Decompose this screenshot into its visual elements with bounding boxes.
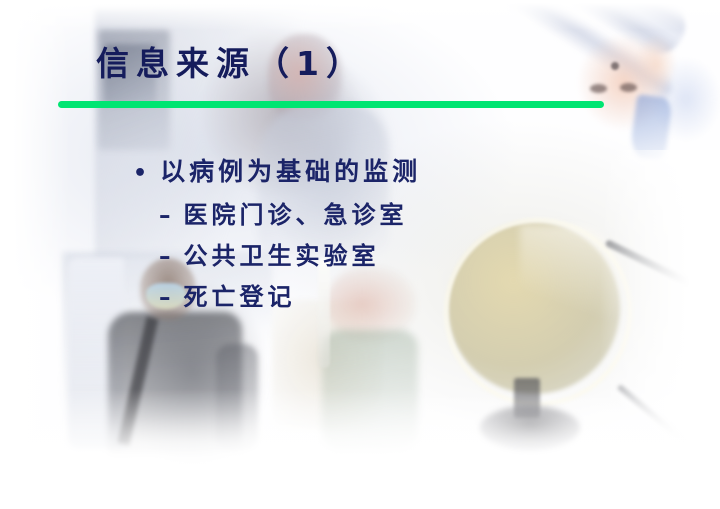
globe-base [480, 406, 580, 450]
bullet-item-3: – 公共卫生实验室 [159, 236, 653, 271]
bullet-marker-dash: – [159, 203, 175, 229]
car-door-shape [68, 258, 124, 448]
bullet-marker-dash: – [159, 244, 175, 270]
bullet-text-3: 公共卫生实验室 [184, 236, 380, 271]
sampling-sleeve-shape [322, 330, 418, 450]
face-right-eye [620, 83, 637, 92]
face-hand-shape [636, 36, 676, 92]
bullet-marker-dash: – [159, 285, 175, 311]
pointer-rod-shape-2 [617, 384, 690, 446]
seatbelt-shape [118, 316, 159, 445]
face-left-eye [590, 84, 607, 93]
globe-neck [514, 378, 540, 418]
person-torso-shape [108, 312, 242, 454]
background-fade-bottom [0, 389, 720, 509]
face-forehead-mark [611, 62, 619, 70]
bullet-text-4: 死亡登记 [184, 277, 296, 312]
bullet-item-1: • 以病例为基础的监测 [133, 152, 653, 188]
green-divider-rule [58, 101, 604, 108]
slide-title: 信息来源（1） [96, 44, 366, 84]
gloved-hand-with-test-tube-photo [272, 300, 382, 430]
presentation-slide: 信息来源（1） • 以病例为基础的监测 – 医院门诊、急诊室 – 公共卫生实验室… [0, 0, 720, 509]
background-fade-left [0, 0, 70, 509]
bullet-item-2: – 医院门诊、急诊室 [159, 195, 653, 230]
masked-face-photo [565, 18, 720, 158]
background-fade-top [0, 0, 720, 30]
bullet-marker-dot: • [133, 161, 151, 186]
bullet-text-1: 以病例为基础的监测 [160, 152, 421, 188]
slide-body: • 以病例为基础的监测 – 医院门诊、急诊室 – 公共卫生实验室 – 死亡登记 [133, 152, 653, 318]
bullet-item-4: – 死亡登记 [159, 277, 653, 312]
bullet-text-2: 医院门诊、急诊室 [184, 195, 408, 230]
face-cloth-shape [629, 94, 673, 160]
person-arm-shape [216, 344, 258, 450]
